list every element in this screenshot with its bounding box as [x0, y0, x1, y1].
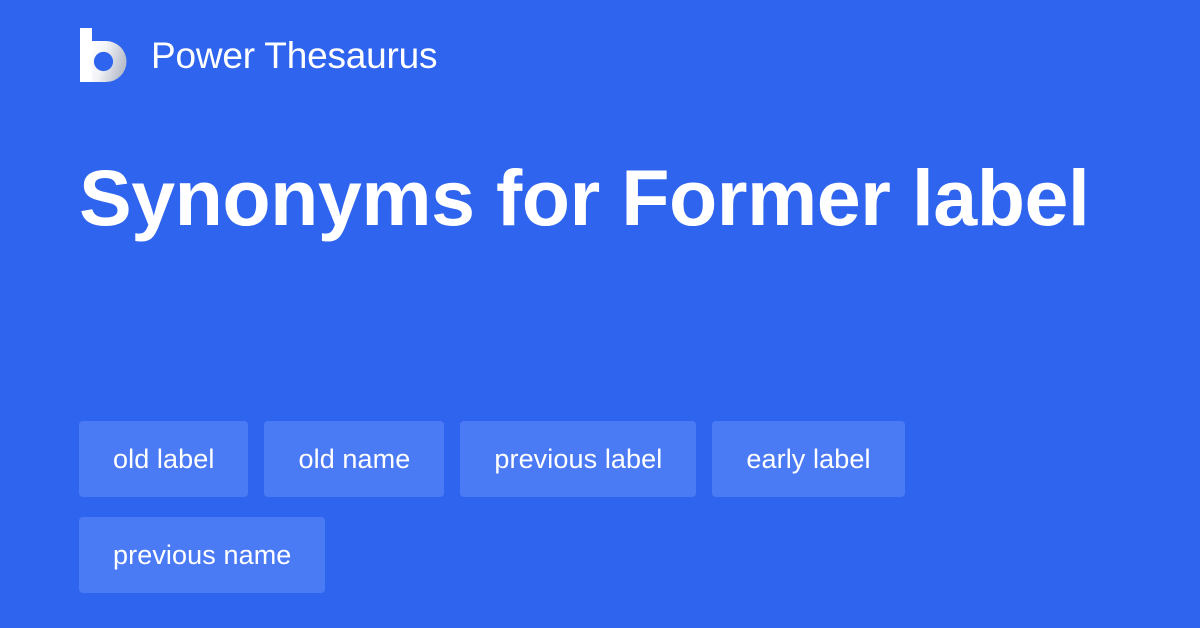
brand-name: Power Thesaurus: [151, 37, 437, 74]
synonym-chip[interactable]: early label: [712, 421, 904, 497]
synonym-chip[interactable]: previous label: [460, 421, 696, 497]
page-title: Synonyms for Former label: [79, 143, 1129, 253]
synonym-chip[interactable]: old label: [79, 421, 248, 497]
brand-header[interactable]: Power Thesaurus: [79, 27, 437, 83]
synonym-chip-list: old label old name previous label early …: [79, 421, 1139, 593]
synonym-chip[interactable]: previous name: [79, 517, 325, 593]
synonym-chip[interactable]: old name: [264, 421, 444, 497]
power-thesaurus-b-logo-icon: [79, 27, 131, 83]
